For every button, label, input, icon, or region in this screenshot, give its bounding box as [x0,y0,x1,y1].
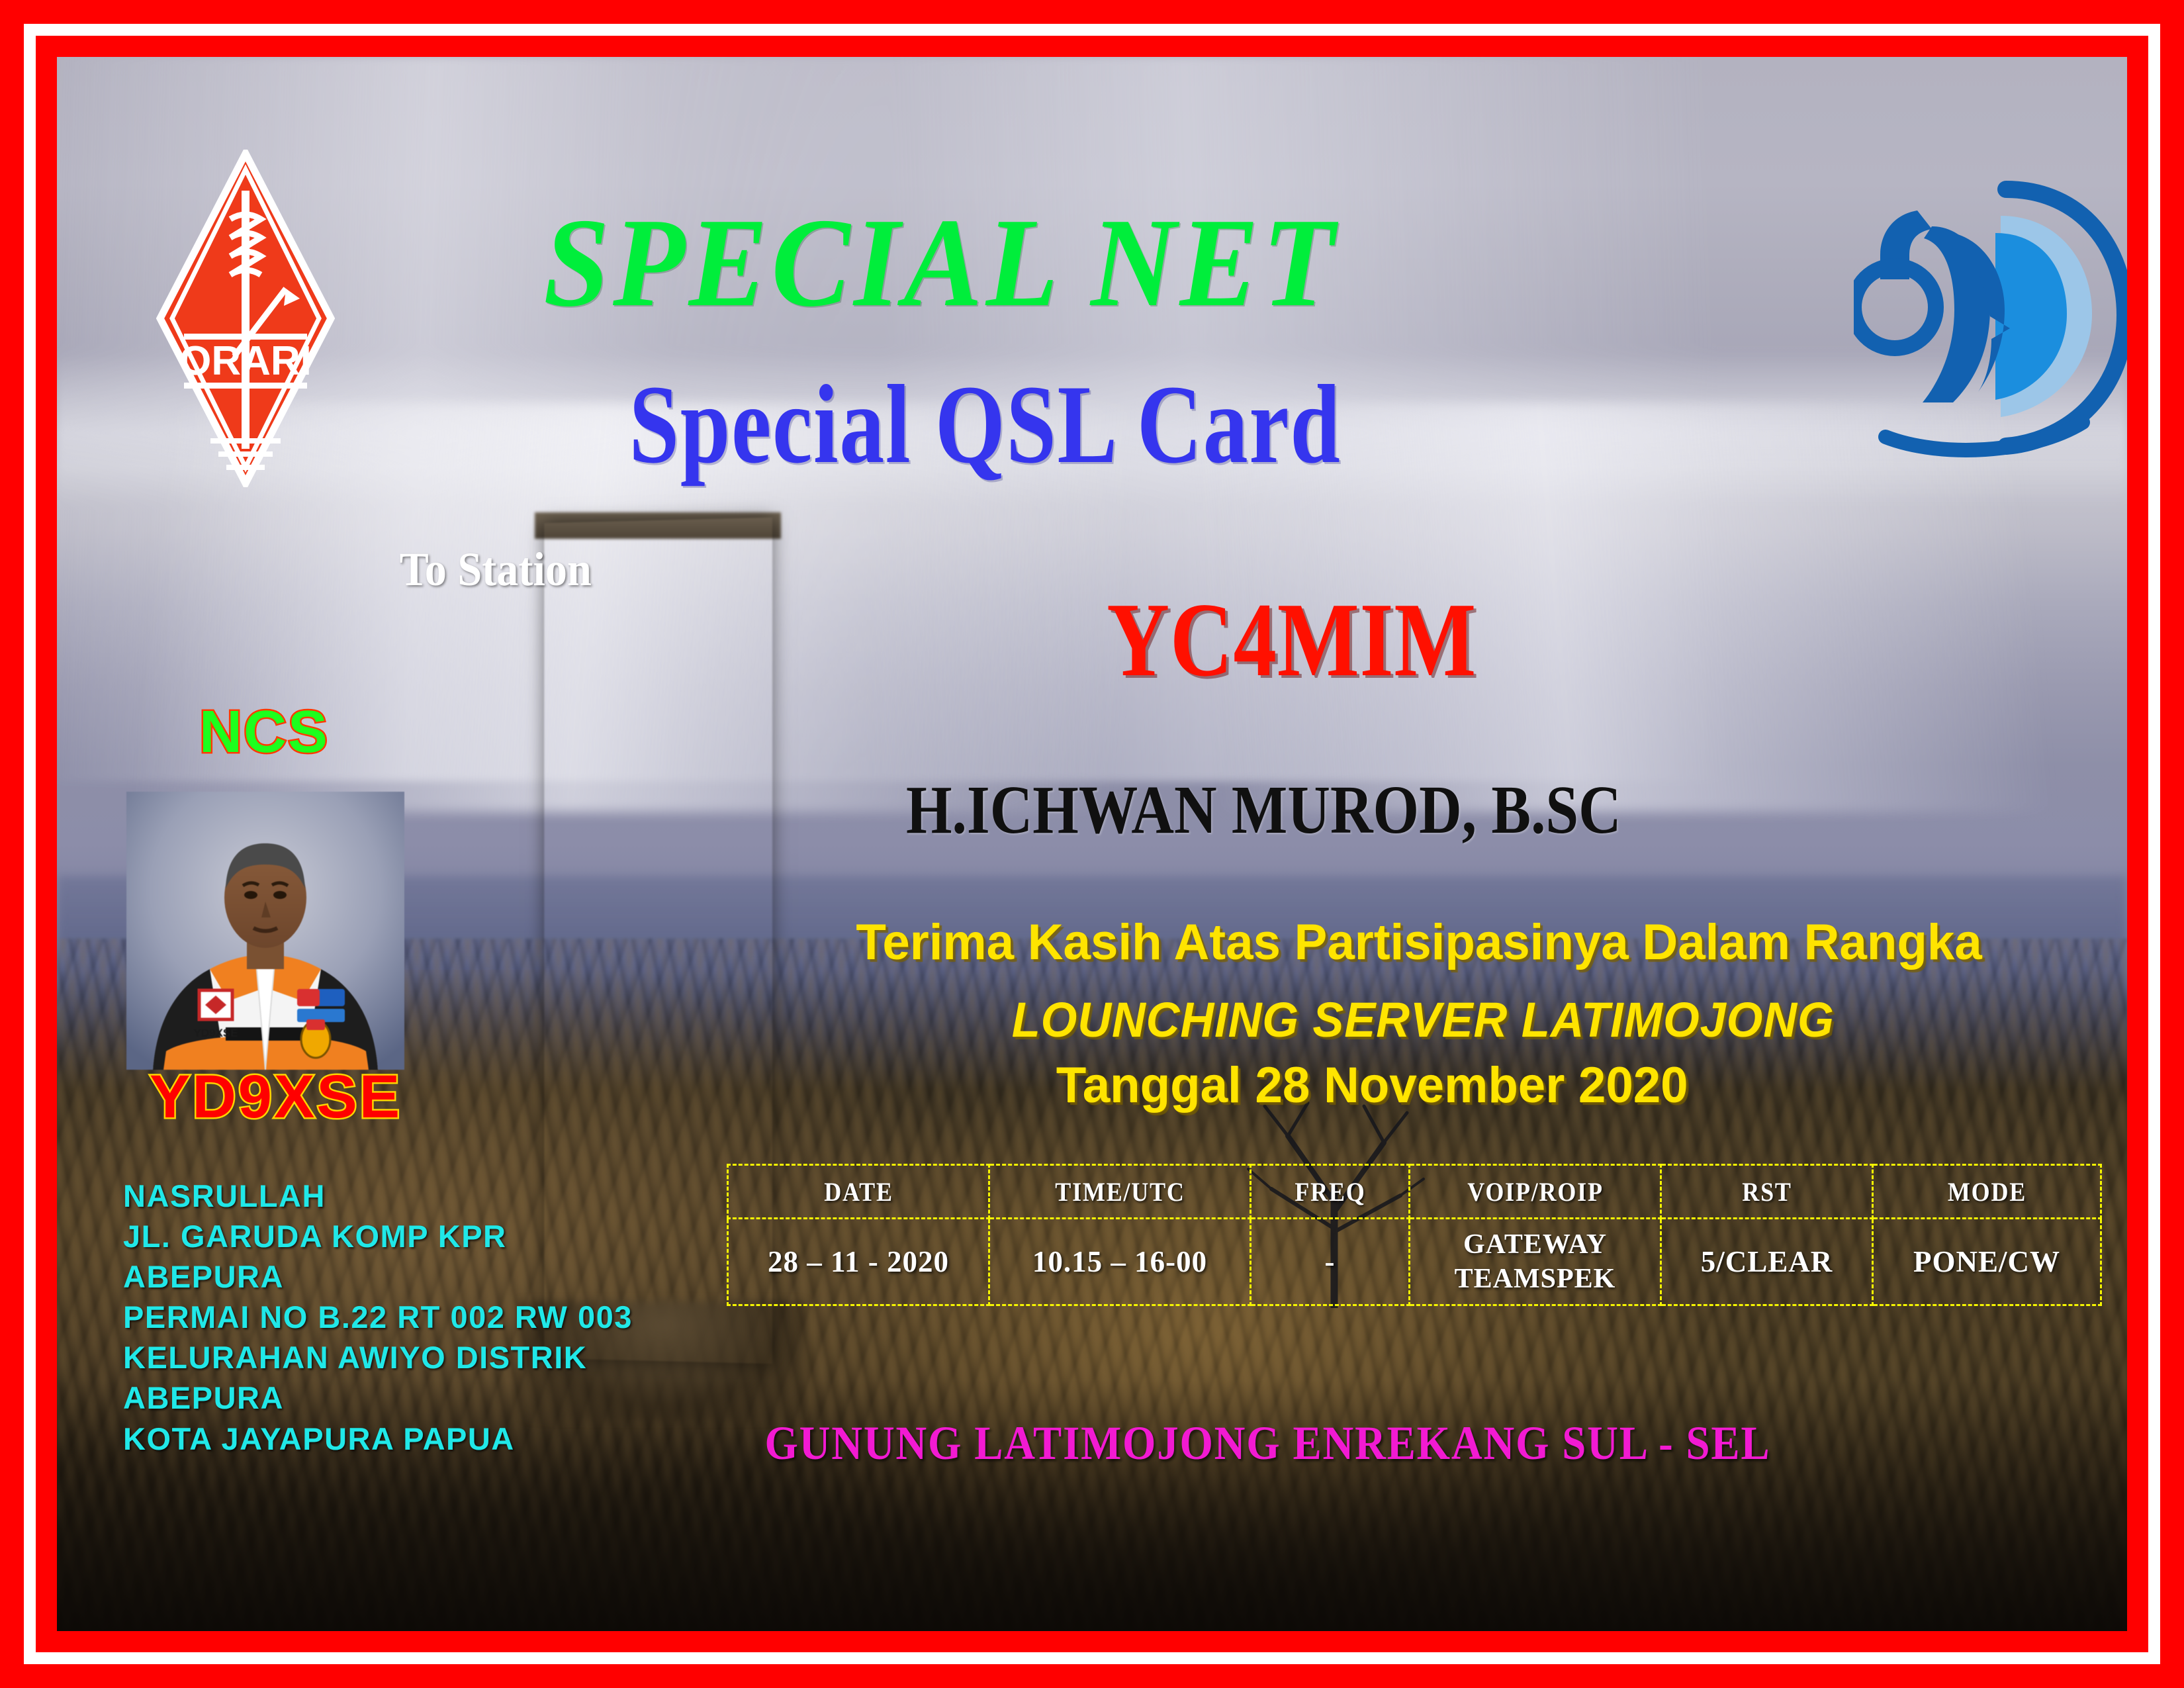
column-header-freq: FREQ [1259,1165,1402,1219]
headset-profile-logo [1854,169,2127,461]
address-line: ABEPURA [123,1256,633,1297]
cell-voip-roip: GATEWAY TEAMSPEK [1410,1219,1661,1305]
uniform-callsign-patch: YD9XSE [193,1027,238,1039]
cell-time: 10.15 – 16-00 [989,1219,1251,1305]
orari-diamond-logo: ORARI [156,150,335,487]
event-line: LOUNCHING SERVER LATIMOJONG [1012,996,1835,1045]
event-date-line: Tanggal 28 November 2020 [1056,1060,1688,1111]
address-line: NASRULLAH [123,1176,633,1216]
orari-wordmark: ORARI [179,338,312,384]
operator-name: H.ICHWAN MUROD, B.SC [906,776,1621,845]
location-line: GUNUNG LATIMOJONG ENREKANG SUL - SEL [764,1419,1770,1467]
station-callsign: YC4MIM [1107,586,1477,692]
column-header-time: TIME/UTC [1002,1165,1238,1219]
column-header-voip-roip: VOIP/ROIP [1422,1165,1649,1219]
cell-rst: 5/CLEAR [1661,1219,1873,1305]
address-line: PERMAI NO B.22 RT 002 RW 003 [123,1297,633,1337]
cell-freq: - [1251,1219,1410,1305]
ncs-callsign: YD9XSE [150,1066,402,1127]
address-line: JL. GARUDA KOMP KPR [123,1216,633,1256]
table-header-row: DATE TIME/UTC FREQ VOIP/ROIP RST MODE [728,1165,2101,1219]
slogan-text: "AMATIR RADIO ADALAH PROGRESIVE" [209,1629,1100,1631]
page-subtitle: Special QSL Card [629,368,1342,481]
address-line: KELURAHAN AWIYO DISTRIK [123,1337,633,1378]
cell-date: 28 – 11 - 2020 [728,1219,989,1305]
cell-voip-roip-line1: GATEWAY [1410,1227,1660,1262]
mailing-address: NASRULLAH JL. GARUDA KOMP KPR ABEPURA PE… [123,1176,633,1459]
operator-photo: YD9XSE [126,792,404,1070]
page-title: SPECIAL NET [543,199,1338,326]
ncs-label: NCS [199,702,329,762]
column-header-mode: MODE [1884,1165,2090,1219]
table-row: 28 – 11 - 2020 10.15 – 16-00 - GATEWAY T… [728,1219,2101,1305]
cell-mode: PONE/CW [1873,1219,2101,1305]
address-line: KOTA JAYAPURA PAPUA [123,1419,633,1459]
column-header-rst: RST [1672,1165,1862,1219]
qsl-card: ORARI SPECIAL NET Special QSL Card To St… [0,0,2184,1688]
qso-log-table: DATE TIME/UTC FREQ VOIP/ROIP RST MODE 28… [727,1164,2102,1306]
column-header-date: DATE [741,1165,976,1219]
web-address: Address : amatir.latimojong.com [1383,1629,1991,1631]
to-station-label: To Station [400,545,592,593]
card-photo-area: ORARI SPECIAL NET Special QSL Card To St… [57,57,2127,1631]
thanks-line: Terima Kasih Atas Partisipasinya Dalam R… [856,917,1981,968]
address-line: ABEPURA [123,1378,633,1418]
cell-voip-roip-line2: TEAMSPEK [1410,1262,1660,1297]
